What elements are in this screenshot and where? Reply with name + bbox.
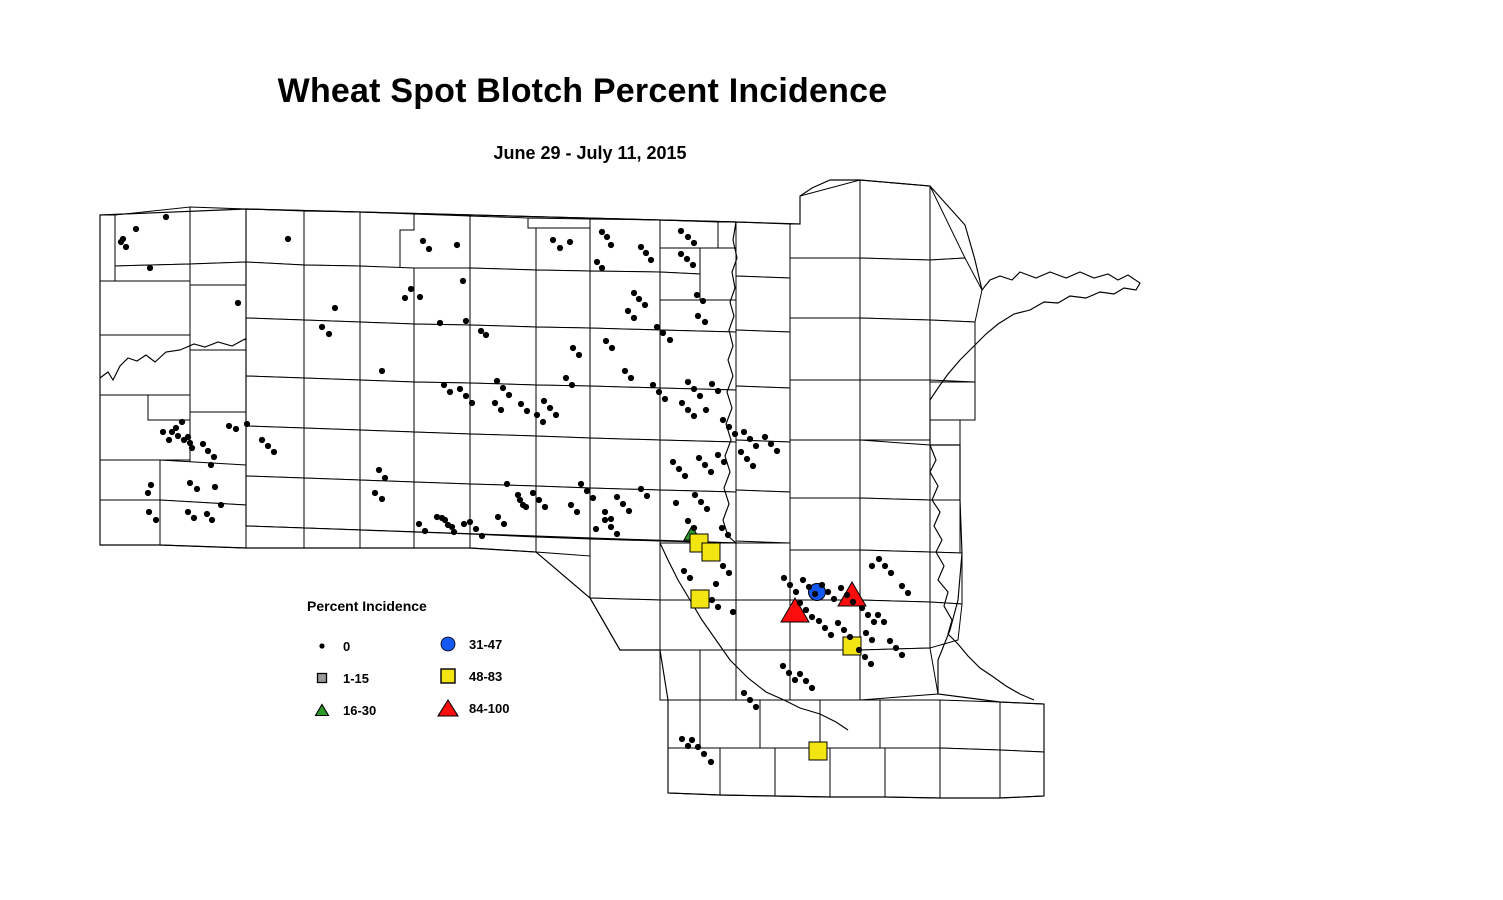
data-point-0 [166,437,172,443]
data-point-0 [604,234,610,240]
data-point-0 [179,419,185,425]
legend-item-84-100[interactable]: 84-100 [433,692,509,724]
data-point-0 [259,437,265,443]
data-point-0 [498,407,504,413]
data-point-0 [825,589,831,595]
data-point-0 [899,583,905,589]
data-point-0 [847,634,853,640]
data-point-0 [160,429,166,435]
data-point-0 [835,620,841,626]
data-point-0 [540,419,546,425]
data-point-0 [500,385,506,391]
data-point-0 [609,345,615,351]
data-point-0 [643,250,649,256]
data-point-0 [574,509,580,515]
data-point-0 [887,638,893,644]
data-point-0 [642,302,648,308]
data-point-0 [709,381,715,387]
data-point-0 [876,556,882,562]
data-point-0 [687,575,693,581]
gray-square-icon [307,670,337,686]
data-point-0 [145,490,151,496]
data-point-0 [698,499,704,505]
data-point-0 [753,704,759,710]
data-point-0 [871,619,877,625]
data-point-0 [603,338,609,344]
data-point-0 [235,300,241,306]
data-point-0 [797,671,803,677]
data-point-0 [467,519,473,525]
data-point-0 [715,452,721,458]
data-point-48-83 [691,590,709,608]
data-point-0 [704,506,710,512]
data-point-0 [650,382,656,388]
data-point-0 [774,448,780,454]
data-point-0 [191,515,197,521]
data-point-0 [570,345,576,351]
data-point-0 [703,407,709,413]
data-point-0 [679,400,685,406]
montana-counties [100,207,266,548]
data-point-0 [697,393,703,399]
data-point-0 [741,429,747,435]
data-point-0 [882,563,888,569]
data-point-0 [685,518,691,524]
data-point-0 [567,239,573,245]
data-point-0 [631,290,637,296]
data-point-0 [828,632,834,638]
data-point-0 [780,663,786,669]
data-point-0 [638,244,644,250]
data-point-0 [501,521,507,527]
data-point-0 [816,618,822,624]
blue-circle-icon [433,634,463,654]
data-point-0 [809,685,815,691]
data-point-0 [439,515,445,521]
legend-item-48-83[interactable]: 48-83 [433,660,509,692]
data-point-0 [402,295,408,301]
data-point-0 [534,412,540,418]
data-point-0 [332,305,338,311]
data-point-0 [457,386,463,392]
data-point-0 [608,242,614,248]
data-point-0 [715,388,721,394]
map-canvas [0,0,1503,900]
data-point-0 [747,436,753,442]
data-point-0 [888,570,894,576]
data-point-0 [584,488,590,494]
data-point-0 [690,262,696,268]
data-point-0 [147,265,153,271]
legend-label-16-30: 16-30 [343,703,376,718]
data-point-0 [200,441,206,447]
data-point-0 [654,324,660,330]
data-point-0 [447,389,453,395]
data-point-0 [667,337,673,343]
data-point-0 [445,522,451,528]
data-point-0 [517,497,523,503]
data-point-0 [726,570,732,576]
data-point-0 [792,677,798,683]
data-point-0 [656,389,662,395]
data-point-0 [689,737,695,743]
data-point-0 [713,581,719,587]
data-point-0 [681,568,687,574]
data-point-0 [547,405,553,411]
data-point-0 [841,627,847,633]
data-point-0 [797,600,803,606]
data-point-0 [608,524,614,530]
data-point-0 [163,214,169,220]
data-point-0 [812,591,818,597]
legend-label-31-47: 31-47 [469,637,502,652]
data-point-0 [542,504,548,510]
data-point-0 [123,244,129,250]
data-point-0 [218,502,224,508]
map-figure: Wheat Spot Blotch Percent Incidence June… [0,0,1503,900]
data-point-0 [372,490,378,496]
data-point-0 [463,393,469,399]
data-point-0 [863,630,869,636]
data-point-0 [426,246,432,252]
data-point-0 [504,481,510,487]
data-point-0 [719,525,725,531]
data-point-0 [730,609,736,615]
data-point-0 [599,265,605,271]
data-point-0 [417,294,423,300]
data-point-0 [133,226,139,232]
data-point-0 [809,614,815,620]
data-point-0 [189,445,195,451]
data-point-0 [523,504,529,510]
data-point-0 [602,517,608,523]
data-point-0 [569,382,575,388]
data-point-0 [700,298,706,304]
data-point-0 [146,509,152,515]
data-point-0 [662,396,668,402]
data-point-0 [376,467,382,473]
data-point-0 [636,296,642,302]
data-point-0 [702,462,708,468]
data-point-0 [865,612,871,618]
data-point-0 [744,456,750,462]
data-point-0 [679,736,685,742]
legend-column-right: 31-47 48-83 84-100 [433,628,509,724]
data-point-0 [437,320,443,326]
data-point-0 [568,502,574,508]
green-triangle-icon [307,701,337,719]
legend-label-84-100: 84-100 [469,701,509,716]
data-point-0 [692,492,698,498]
data-point-0 [720,417,726,423]
data-point-0 [701,751,707,757]
data-point-0 [379,496,385,502]
legend-item-31-47[interactable]: 31-47 [433,628,509,660]
data-point-0 [868,661,874,667]
data-point-0 [694,292,700,298]
data-point-0 [118,239,124,245]
data-point-0 [620,501,626,507]
data-point-0 [747,697,753,703]
data-point-0 [271,449,277,455]
data-point-0 [593,526,599,532]
data-point-0 [862,654,868,660]
legend-column-left: 0 1-15 16-30 [307,630,376,726]
legend-item-16-30[interactable]: 16-30 [307,694,376,726]
north-dakota-counties [246,209,736,543]
data-point-0 [702,319,708,325]
legend-label-48-83: 48-83 [469,669,502,684]
data-point-0 [738,449,744,455]
data-point-0 [494,378,500,384]
data-point-0 [473,526,479,532]
data-point-0 [422,528,428,534]
data-point-0 [881,619,887,625]
data-point-0 [518,401,524,407]
data-point-0 [803,678,809,684]
data-point-0 [479,533,485,539]
data-point-0 [420,238,426,244]
small-dot-icon [307,638,337,654]
data-point-0 [720,563,726,569]
data-point-0 [819,582,825,588]
data-point-0 [741,690,747,696]
data-point-0 [721,459,727,465]
data-point-0 [685,407,691,413]
red-triangle-icon [433,697,463,719]
data-point-0 [492,400,498,406]
red-river-counties [736,222,790,543]
data-point-0 [673,500,679,506]
data-point-0 [175,433,181,439]
legend-label-1-15: 1-15 [343,671,369,686]
yellow-square-icon [433,666,463,686]
data-point-0 [550,237,556,243]
legend-item-0[interactable]: 0 [307,630,376,662]
data-point-0 [614,531,620,537]
data-point-0 [212,484,218,490]
data-point-48-83 [702,543,720,561]
data-point-0 [285,236,291,242]
data-point-0 [563,375,569,381]
data-point-0 [768,441,774,447]
data-point-0 [209,517,215,523]
data-point-0 [469,400,475,406]
data-point-0 [463,318,469,324]
data-point-0 [478,328,484,334]
data-point-0 [644,493,650,499]
legend-item-1-15[interactable]: 1-15 [307,662,376,694]
data-point-0 [709,597,715,603]
data-point-0 [638,486,644,492]
data-point-0 [557,245,563,251]
data-point-0 [416,521,422,527]
data-point-0 [408,286,414,292]
data-point-0 [169,429,175,435]
data-point-0 [806,584,812,590]
data-point-0 [625,308,631,314]
data-point-0 [451,529,457,535]
data-point-0 [194,486,200,492]
data-point-0 [599,229,605,235]
data-point-0 [715,604,721,610]
data-point-0 [602,509,608,515]
data-point-0 [187,480,193,486]
data-point-0 [786,670,792,676]
data-point-0 [211,454,217,460]
data-point-0 [793,589,799,595]
data-point-0 [185,434,191,440]
data-point-0 [678,251,684,257]
data-point-0 [530,490,536,496]
data-point-0 [685,743,691,749]
data-point-0 [233,426,239,432]
data-point-0 [441,382,447,388]
data-point-0 [781,575,787,581]
data-point-0 [541,398,547,404]
data-point-0 [460,278,466,284]
data-point-0 [708,759,714,765]
data-point-0 [205,448,211,454]
data-point-0 [660,330,666,336]
data-point-0 [691,525,697,531]
data-point-0 [787,582,793,588]
data-point-0 [695,744,701,750]
data-point-0 [678,228,684,234]
data-point-0 [628,375,634,381]
data-point-0 [631,315,637,321]
data-point-0 [732,431,738,437]
data-point-0 [869,637,875,643]
data-point-0 [899,652,905,658]
data-point-0 [226,423,232,429]
data-point-0 [594,259,600,265]
data-point-0 [691,386,697,392]
data-point-0 [204,511,210,517]
data-point-0 [762,434,768,440]
data-point-0 [319,324,325,330]
data-point-0 [696,455,702,461]
data-point-0 [326,331,332,337]
data-point-0 [506,392,512,398]
data-point-0 [495,514,501,520]
data-point-0 [608,516,614,522]
data-point-0 [859,605,865,611]
data-point-0 [875,612,881,618]
data-point-0 [265,443,271,449]
data-point-0 [244,421,250,427]
data-point-0 [676,466,682,472]
data-point-0 [382,475,388,481]
data-point-0 [208,462,214,468]
data-point-0 [379,368,385,374]
legend-title: Percent Incidence [307,598,545,614]
data-point-0 [553,412,559,418]
data-point-0 [708,469,714,475]
data-point-0 [578,481,584,487]
data-point-0 [670,459,676,465]
data-point-0 [185,509,191,515]
data-point-0 [626,508,632,514]
data-point-0 [524,408,530,414]
data-point-0 [822,625,828,631]
data-point-0 [905,590,911,596]
legend-label-0: 0 [343,639,350,654]
data-point-0 [726,424,732,430]
data-point-0 [536,497,542,503]
data-point-0 [614,494,620,500]
data-point-0 [893,645,899,651]
data-point-0 [622,368,628,374]
data-point-0 [869,563,875,569]
data-point-0 [850,599,856,605]
data-point-0 [803,607,809,613]
data-point-0 [153,517,159,523]
legend: Percent Incidence 0 1-15 16-30 [305,598,545,728]
data-point-0 [750,463,756,469]
data-point-0 [691,240,697,246]
data-point-0 [682,473,688,479]
data-point-0 [454,242,460,248]
data-point-0 [684,256,690,262]
data-point-0 [725,532,731,538]
data-point-0 [648,257,654,263]
data-point-0 [691,413,697,419]
data-point-0 [831,596,837,602]
data-point-0 [800,577,806,583]
data-point-0 [590,495,596,501]
data-point-48-83 [809,742,827,760]
data-point-0 [685,234,691,240]
data-point-0 [576,352,582,358]
data-point-0 [844,592,850,598]
data-point-0 [685,379,691,385]
data-point-0 [753,443,759,449]
data-point-0 [838,585,844,591]
data-point-0 [483,332,489,338]
data-point-0 [856,647,862,653]
data-point-0 [148,482,154,488]
data-point-0 [461,521,467,527]
data-point-0 [695,313,701,319]
